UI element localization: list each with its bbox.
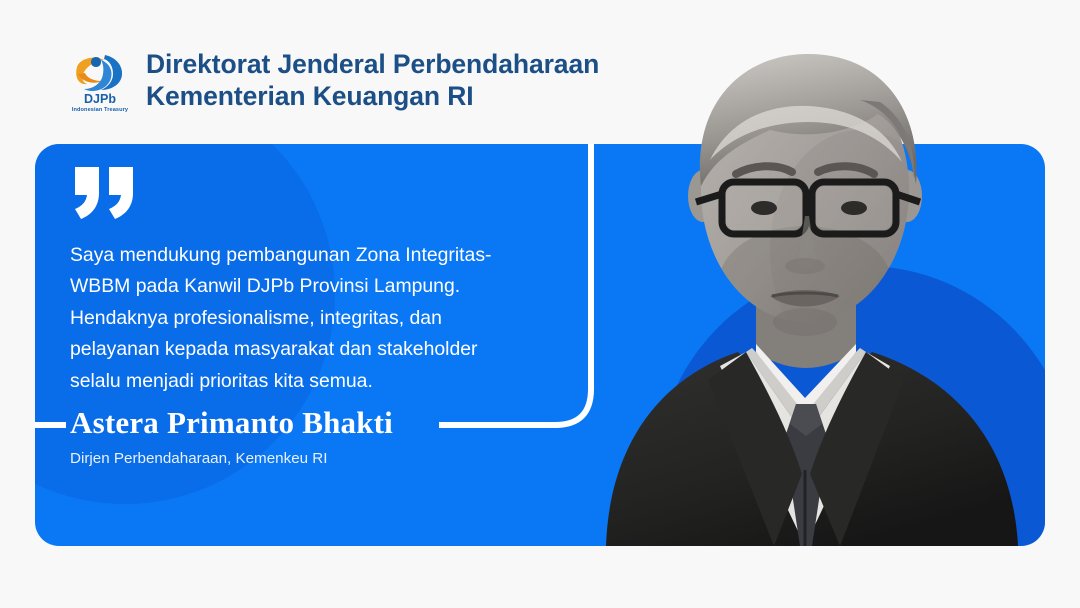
speaker-name: Astera Primanto Bhakti — [70, 405, 393, 441]
quote-line-5: selalu menjadi prioritas kita semua. — [70, 366, 562, 397]
quote-line-4: pelayanan kepada masyarakat dan stakehol… — [70, 334, 562, 365]
quote-line-2: WBBM pada Kanwil DJPb Provinsi Lampung. — [70, 271, 562, 302]
page-title: Direktorat Jenderal PerbendaharaanKement… — [146, 49, 599, 112]
quote-line-1: Saya mendukung pembangunan Zona Integrit… — [70, 240, 562, 271]
attribution: Astera Primanto Bhakti Dirjen Perbendaha… — [70, 405, 393, 468]
portrait-photo — [560, 0, 1080, 546]
testimonial-poster: DJPb Indonesian Treasury Direktorat Jend… — [0, 0, 1080, 608]
djpb-logo-icon: DJPb Indonesian Treasury — [68, 48, 132, 114]
quote-line-3: Hendaknya profesionalisme, integritas, d… — [70, 303, 562, 334]
logo-tagline: Indonesian Treasury — [72, 107, 129, 113]
brand-title-line1: Direktorat Jenderal Perbendaharaan — [146, 49, 599, 79]
quote-mark-icon — [71, 165, 139, 221]
brand-title-line2: Kementerian Keuangan RI — [146, 81, 474, 111]
brand-lockup: DJPb Indonesian Treasury Direktorat Jend… — [68, 48, 599, 114]
speaker-role: Dirjen Perbendaharaan, Kemenkeu RI — [70, 450, 393, 468]
logo-wordmark: DJPb — [84, 92, 116, 106]
quote-text: Saya mendukung pembangunan Zona Integrit… — [70, 240, 562, 397]
